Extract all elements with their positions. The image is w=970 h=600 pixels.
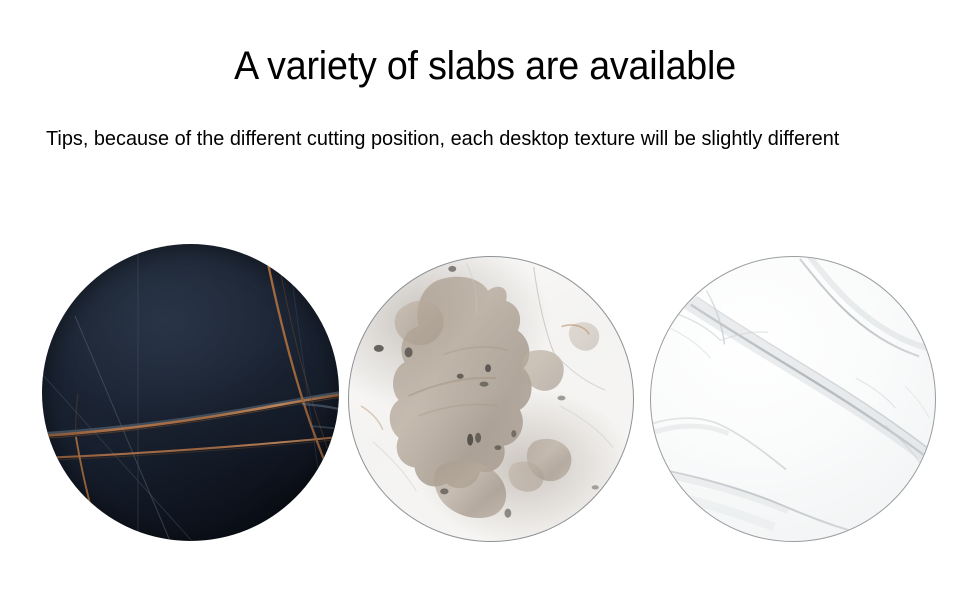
slab-swatch-white-carrara-marble[interactable] — [650, 256, 936, 542]
dark-slab-vein-texture — [42, 244, 339, 541]
tips-text: Tips, because of the different cutting p… — [46, 120, 909, 158]
slab-showcase-page: A variety of slabs are available Tips, b… — [0, 0, 970, 600]
patchwork-marble-texture — [349, 257, 633, 541]
page-title: A variety of slabs are available — [29, 42, 941, 90]
slab-swatch-taupe-patchwork-marble[interactable] — [348, 256, 634, 542]
carrara-marble-vein-texture — [651, 257, 935, 541]
slab-swatch-dark-copper-vein[interactable] — [42, 244, 339, 541]
